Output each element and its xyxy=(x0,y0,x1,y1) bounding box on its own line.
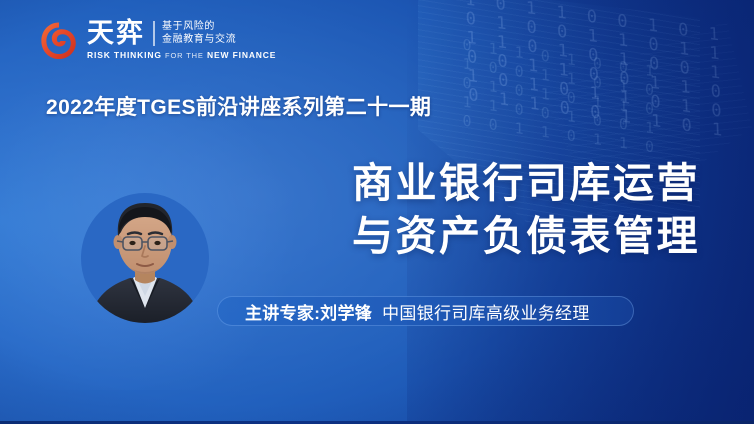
webinar-poster: 1 0 1 1 0 0 1 0 1 0 1 0 0 1 1 0 1 1 1 1 … xyxy=(0,0,754,424)
logo-divider xyxy=(153,21,155,46)
brand-tagline-en-bold1: RISK THINKING xyxy=(87,50,162,60)
avatar xyxy=(78,192,212,324)
brand-tagline-en-bold2: NEW FINANCE xyxy=(207,50,276,60)
brand-tagline-en: RISK THINKING FOR THE NEW FINANCE xyxy=(87,50,276,60)
brand-wordmark: 天弈 基于风险的 金融教育与交流 RISK THINKING FOR THE N… xyxy=(87,19,276,60)
speaker-badge: 主讲专家:刘学锋 中国银行司库高级业务经理 xyxy=(217,296,634,326)
series-label: 2022年度TGES前沿讲座系列第二十一期 xyxy=(46,91,431,121)
speaker-portrait xyxy=(78,192,212,324)
brand-tagline-cn: 基于风险的 金融教育与交流 xyxy=(162,19,236,46)
brand-tagline-line2: 金融教育与交流 xyxy=(162,33,236,46)
brand-tagline-line1: 基于风险的 xyxy=(162,20,236,33)
speaker-name: 主讲专家:刘学锋 xyxy=(245,299,372,324)
brand-tagline-en-thin: FOR THE xyxy=(165,51,204,60)
brand-name-cn: 天弈 xyxy=(87,19,145,48)
tianyi-spiral-logo-icon xyxy=(38,20,80,62)
brand-logo: 天弈 基于风险的 金融教育与交流 RISK THINKING FOR THE N… xyxy=(38,19,276,65)
speaker-organization: 中国银行司库高级业务经理 xyxy=(382,299,590,324)
